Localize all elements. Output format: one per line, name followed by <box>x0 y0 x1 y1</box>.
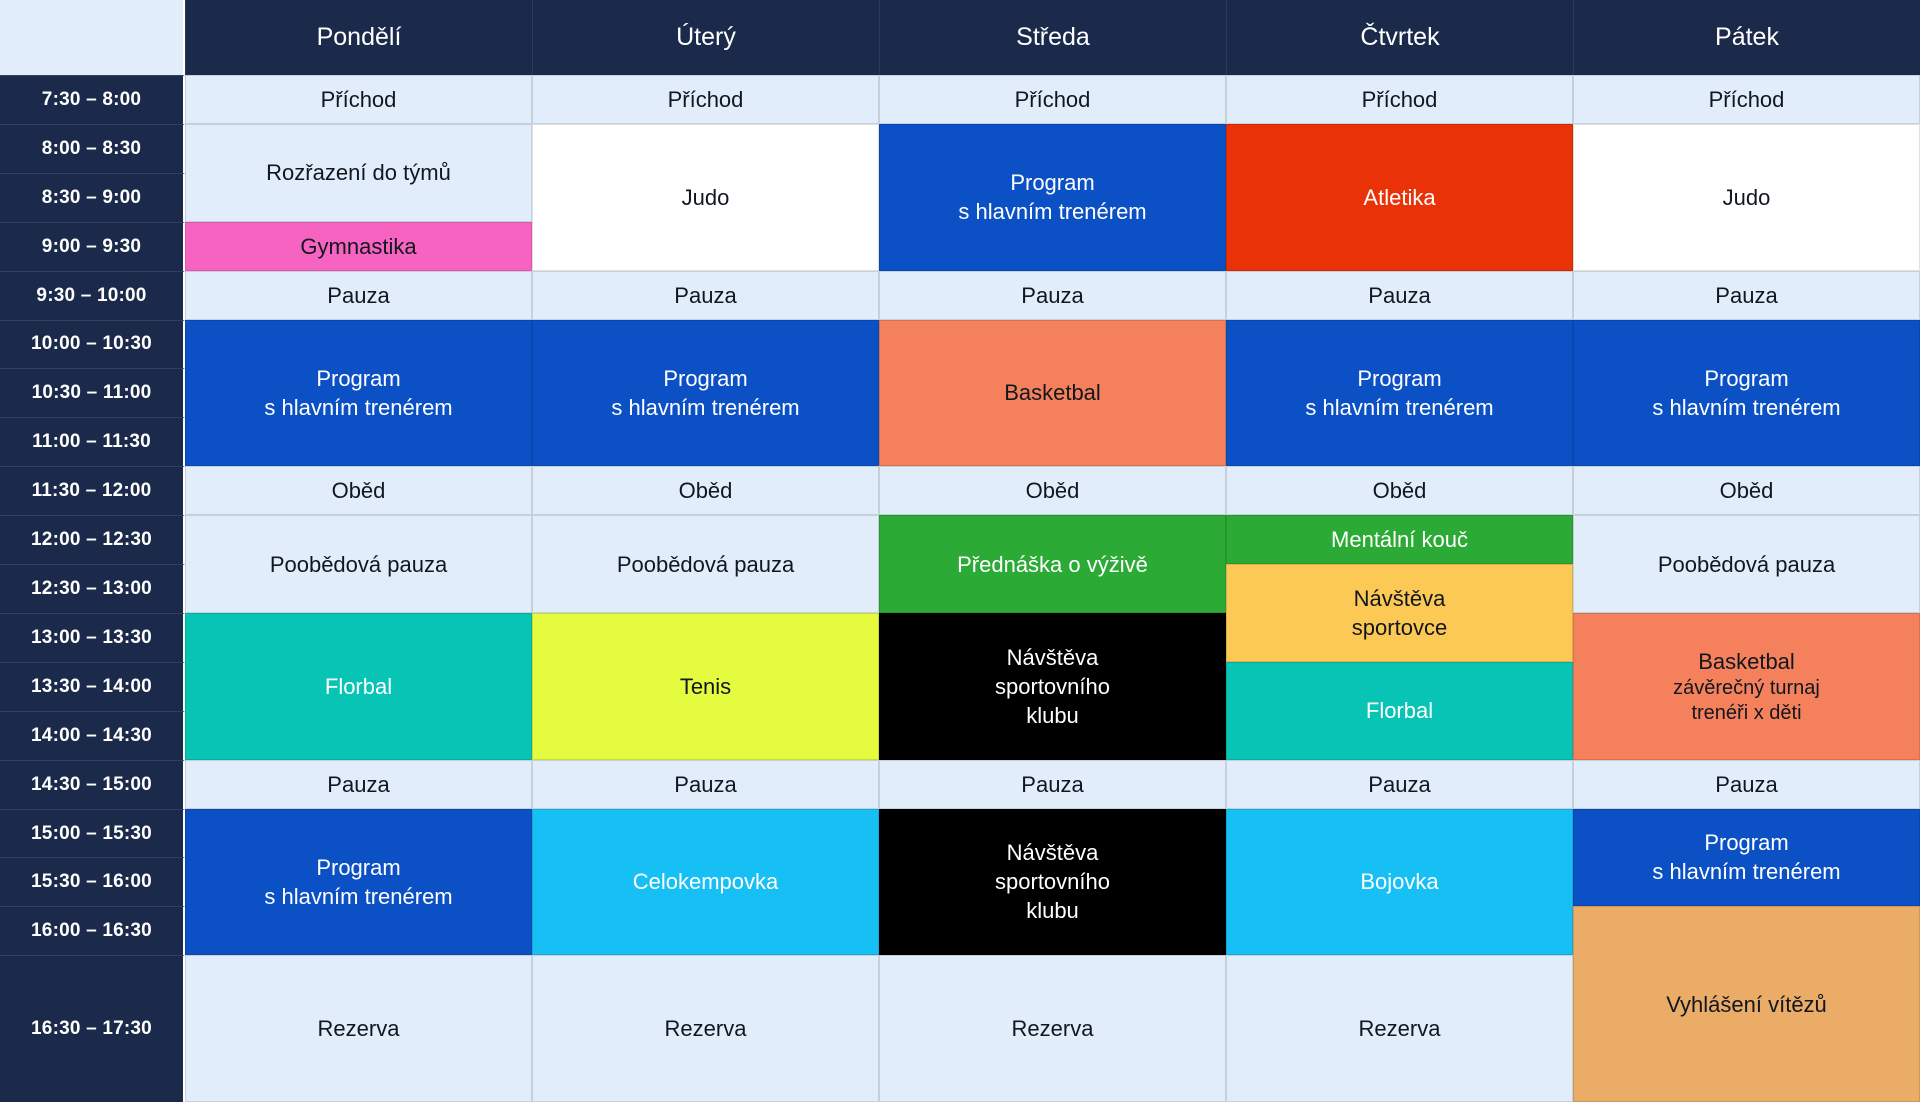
event-line-2: sportovce <box>1352 613 1447 642</box>
event-fri-pauza[interactable]: Pauza <box>1573 271 1920 320</box>
time-label: 15:00 – 15:30 <box>0 809 185 858</box>
event-wed-navsteva-klubu-2[interactable]: Návštěva sportovního klubu <box>879 809 1226 956</box>
event-line-2: s hlavním trenérem <box>611 393 799 422</box>
event-fri-pauza-odpoledne[interactable]: Pauza <box>1573 760 1920 809</box>
event-line-1: Program <box>316 364 400 393</box>
event-thu-prichod[interactable]: Příchod <box>1226 75 1573 124</box>
event-tue-judo[interactable]: Judo <box>532 124 879 271</box>
event-line-2: sportovního <box>995 867 1110 896</box>
event-fri-vyhlaseni-vitezu[interactable]: Vyhlášení vítězů <box>1573 906 1920 1102</box>
event-wed-program-rano[interactable]: Program s hlavním trenérem <box>879 124 1226 271</box>
event-wed-pauza-odpoledne[interactable]: Pauza <box>879 760 1226 809</box>
time-label: 10:00 – 10:30 <box>0 320 185 369</box>
event-line-1: Program <box>663 364 747 393</box>
event-wed-prednaska-o-vyzive[interactable]: Přednáška o výživě <box>879 515 1226 613</box>
time-label: 8:00 – 8:30 <box>0 124 185 173</box>
day-header-thursday: Čtvrtek <box>1226 0 1573 75</box>
time-label: 9:00 – 9:30 <box>0 222 185 271</box>
time-label: 16:00 – 16:30 <box>0 906 185 955</box>
time-label: 14:00 – 14:30 <box>0 711 185 760</box>
day-header-friday: Pátek <box>1573 0 1920 75</box>
event-line-2: s hlavním trenérem <box>1652 857 1840 886</box>
event-mon-gymnastika[interactable]: Gymnastika <box>185 222 532 271</box>
event-mon-prichod[interactable]: Příchod <box>185 75 532 124</box>
time-label: 7:30 – 8:00 <box>0 75 185 124</box>
event-line-1: Návštěva <box>1354 584 1446 613</box>
event-line-1: Program <box>1357 364 1441 393</box>
event-wed-prichod[interactable]: Příchod <box>879 75 1226 124</box>
event-line-3: klubu <box>1026 896 1079 925</box>
event-tue-obed[interactable]: Oběd <box>532 466 879 515</box>
event-mon-program-odpoledne[interactable]: Program s hlavním trenérem <box>185 809 532 956</box>
event-thu-pauza[interactable]: Pauza <box>1226 271 1573 320</box>
event-fri-basketbal-turnaj[interactable]: Basketbal závěrečný turnaj trenéři x dět… <box>1573 613 1920 760</box>
event-line-3: trenéři x děti <box>1691 701 1801 726</box>
time-label: 16:30 – 17:30 <box>0 955 185 1102</box>
event-mon-program-dopoledne[interactable]: Program s hlavním trenérem <box>185 320 532 467</box>
event-line-2: s hlavním trenérem <box>1305 393 1493 422</box>
event-tue-prichod[interactable]: Příchod <box>532 75 879 124</box>
event-line-1: Návštěva <box>1007 838 1099 867</box>
event-fri-program-dopoledne[interactable]: Program s hlavním trenérem <box>1573 320 1920 467</box>
event-thu-program-dopoledne[interactable]: Program s hlavním trenérem <box>1226 320 1573 467</box>
event-thu-mentalni-kouc[interactable]: Mentální kouč <box>1226 515 1573 564</box>
time-label: 13:30 – 14:00 <box>0 662 185 711</box>
event-line-1: Program <box>1010 168 1094 197</box>
event-fri-program-odpoledne[interactable]: Program s hlavním trenérem <box>1573 809 1920 907</box>
event-mon-poobedova-pauza[interactable]: Poobědová pauza <box>185 515 532 613</box>
day-header-monday: Pondělí <box>185 0 532 75</box>
event-mon-rozrazeni[interactable]: Rozřazení do týmů <box>185 124 532 222</box>
time-label: 11:00 – 11:30 <box>0 417 185 466</box>
event-wed-rezerva[interactable]: Rezerva <box>879 955 1226 1102</box>
event-tue-rezerva[interactable]: Rezerva <box>532 955 879 1102</box>
event-tue-celokempovka[interactable]: Celokempovka <box>532 809 879 956</box>
event-wed-basketbal[interactable]: Basketbal <box>879 320 1226 467</box>
event-line-1: Program <box>1704 364 1788 393</box>
event-mon-rezerva[interactable]: Rezerva <box>185 955 532 1102</box>
time-label: 10:30 – 11:00 <box>0 368 185 417</box>
event-thu-navsteva-sportovce[interactable]: Návštěva sportovce <box>1226 564 1573 662</box>
event-tue-program-dopoledne[interactable]: Program s hlavním trenérem <box>532 320 879 467</box>
event-thu-rezerva[interactable]: Rezerva <box>1226 955 1573 1102</box>
event-thu-obed[interactable]: Oběd <box>1226 466 1573 515</box>
event-fri-prichod[interactable]: Příchod <box>1573 75 1920 124</box>
time-label: 8:30 – 9:00 <box>0 173 185 222</box>
event-line-2: s hlavním trenérem <box>958 197 1146 226</box>
event-line-1: Program <box>316 853 400 882</box>
event-thu-atletika[interactable]: Atletika <box>1226 124 1573 271</box>
event-wed-navsteva-klubu[interactable]: Návštěva sportovního klubu <box>879 613 1226 760</box>
event-fri-obed[interactable]: Oběd <box>1573 466 1920 515</box>
event-mon-florbal[interactable]: Florbal <box>185 613 532 760</box>
day-header-tuesday: Úterý <box>532 0 879 75</box>
event-line-2: s hlavním trenérem <box>1652 393 1840 422</box>
event-line-2: sportovního <box>995 672 1110 701</box>
event-tue-tenis[interactable]: Tenis <box>532 613 879 760</box>
table-corner-cell <box>0 0 185 75</box>
event-tue-pauza-odpoledne[interactable]: Pauza <box>532 760 879 809</box>
event-line-1: Program <box>1704 828 1788 857</box>
event-tue-pauza[interactable]: Pauza <box>532 271 879 320</box>
event-thu-florbal[interactable]: Florbal <box>1226 662 1573 760</box>
event-line-2: s hlavním trenérem <box>264 393 452 422</box>
event-line-1: Basketbal <box>1698 647 1795 676</box>
weekly-schedule-table: Pondělí Úterý Středa Čtvrtek Pátek 7:30 … <box>0 0 1920 1102</box>
event-wed-pauza[interactable]: Pauza <box>879 271 1226 320</box>
event-tue-poobedova-pauza[interactable]: Poobědová pauza <box>532 515 879 613</box>
event-wed-obed[interactable]: Oběd <box>879 466 1226 515</box>
event-line-2: s hlavním trenérem <box>264 882 452 911</box>
time-label: 12:00 – 12:30 <box>0 515 185 564</box>
event-mon-pauza[interactable]: Pauza <box>185 271 532 320</box>
event-mon-pauza-odpoledne[interactable]: Pauza <box>185 760 532 809</box>
event-line-2: závěrečný turnaj <box>1673 676 1820 701</box>
event-thu-pauza-odpoledne[interactable]: Pauza <box>1226 760 1573 809</box>
event-fri-judo[interactable]: Judo <box>1573 124 1920 271</box>
time-label: 12:30 – 13:00 <box>0 564 185 613</box>
time-label: 13:00 – 13:30 <box>0 613 185 662</box>
event-thu-bojovka[interactable]: Bojovka <box>1226 809 1573 956</box>
time-label: 15:30 – 16:00 <box>0 857 185 906</box>
event-line-1: Návštěva <box>1007 643 1099 672</box>
day-header-wednesday: Středa <box>879 0 1226 75</box>
event-line-3: klubu <box>1026 701 1079 730</box>
time-label: 14:30 – 15:00 <box>0 760 185 809</box>
time-label: 11:30 – 12:00 <box>0 466 185 515</box>
event-fri-poobedova-pauza[interactable]: Poobědová pauza <box>1573 515 1920 613</box>
event-mon-obed[interactable]: Oběd <box>185 466 532 515</box>
time-label: 9:30 – 10:00 <box>0 271 185 320</box>
